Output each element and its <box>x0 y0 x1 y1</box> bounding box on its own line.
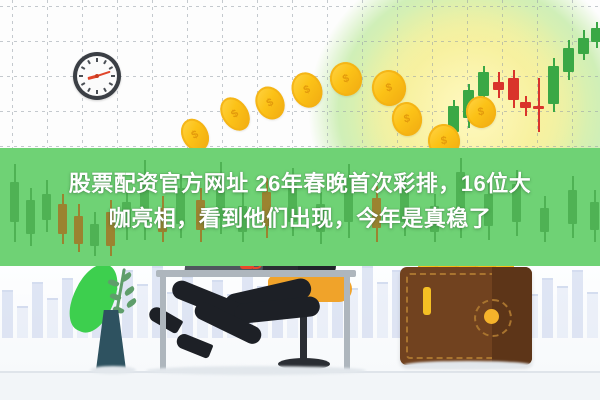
wallet-button <box>484 309 499 324</box>
headline-line-1: 股票配资官方网址 26年春晚首次彩排，16位大 <box>0 166 600 201</box>
coin-currency-symbol: $ <box>214 92 256 136</box>
leather-wallet <box>400 267 532 365</box>
desk-surface <box>156 270 356 277</box>
background-bar <box>557 286 568 338</box>
headline-line-2: 咖亮相，看到他们出现，今年是真稳了 <box>0 201 600 236</box>
background-bar <box>2 290 13 338</box>
illustration-canvas: $$$$$$$$$ <box>0 0 600 400</box>
background-bar <box>572 270 583 338</box>
coin-currency-symbol: $ <box>389 100 424 139</box>
desk-leg-left <box>160 277 166 371</box>
wallet-card <box>423 287 431 315</box>
gold-coin: $ <box>389 100 424 139</box>
background-bar <box>362 266 373 338</box>
background-bar <box>137 284 148 338</box>
coin-currency-symbol: $ <box>463 93 499 131</box>
desk-shadow <box>146 366 366 375</box>
background-bar <box>377 282 388 338</box>
gold-coin: $ <box>286 68 327 113</box>
coin-currency-symbol: $ <box>326 58 367 100</box>
headline-overlay: 股票配资官方网址 26年春晚首次彩排，16位大 咖亮相，看到他们出现，今年是真稳… <box>0 166 600 236</box>
desk-leg-right <box>344 277 350 371</box>
background-bar <box>32 282 43 338</box>
gold-coin: $ <box>250 82 290 125</box>
coin-currency-symbol: $ <box>250 82 290 125</box>
gold-coin: $ <box>463 93 499 131</box>
background-bar <box>47 298 58 338</box>
wallet-shadow <box>404 361 532 369</box>
gold-coin: $ <box>326 58 367 100</box>
plant-shadow <box>90 366 136 374</box>
floor <box>0 372 600 400</box>
coin-currency-symbol: $ <box>286 68 327 113</box>
background-bar <box>17 306 28 338</box>
background-bar <box>542 278 553 338</box>
background-bar <box>587 292 598 338</box>
gold-coin: $ <box>214 92 256 136</box>
